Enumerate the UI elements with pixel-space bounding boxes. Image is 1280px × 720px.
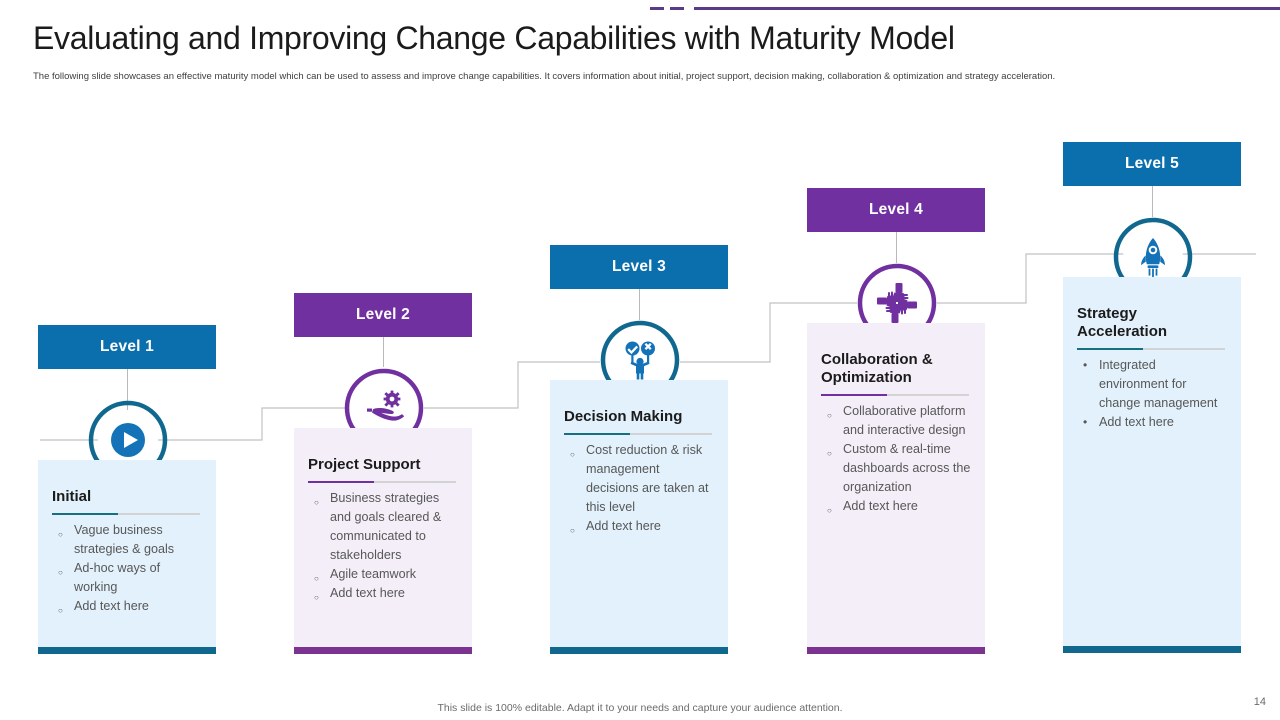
level-1-badge[interactable]: Level 1 xyxy=(38,325,216,369)
level-1-card: Initial Vague business strategies & goal… xyxy=(38,460,216,652)
header-accent-dash-1 xyxy=(650,7,664,10)
level-3-footbar xyxy=(550,647,728,654)
list-item: Cost reduction & risk management decisio… xyxy=(566,441,714,517)
level-2-title-underline xyxy=(308,481,456,483)
level-5-title-underline xyxy=(1077,348,1225,350)
level-2-footbar xyxy=(294,647,472,654)
level-1-list: Vague business strategies & goals Ad-hoc… xyxy=(52,521,202,616)
level-4-stem xyxy=(896,232,897,263)
level-2-badge[interactable]: Level 2 xyxy=(294,293,472,337)
level-1-footbar xyxy=(38,647,216,654)
level-5-badge[interactable]: Level 5 xyxy=(1063,142,1241,186)
page-subtitle: The following slide showcases an effecti… xyxy=(33,71,1218,84)
level-5-footbar xyxy=(1063,646,1241,653)
list-item: Add text here xyxy=(566,517,714,536)
level-4-footbar xyxy=(807,647,985,654)
list-item: Ad-hoc ways of working xyxy=(54,559,202,597)
list-item: Add text here xyxy=(1079,413,1227,432)
list-item: Collaborative platform and interactive d… xyxy=(823,402,971,440)
level-4-badge[interactable]: Level 4 xyxy=(807,188,985,232)
level-4-card: Collaboration & Optimization Collaborati… xyxy=(807,323,985,652)
level-4-title-underline xyxy=(821,394,969,396)
level-2-title: Project Support xyxy=(308,456,458,474)
level-5-title: Strategy Acceleration xyxy=(1077,305,1227,341)
level-3-card: Decision Making Cost reduction & risk ma… xyxy=(550,380,728,652)
level-4-title: Collaboration & Optimization xyxy=(821,351,971,387)
level-5-stem xyxy=(1152,186,1153,217)
page-title: Evaluating and Improving Change Capabili… xyxy=(33,20,1213,57)
level-5-list: Integrated environment for change manage… xyxy=(1077,356,1227,432)
header-accent-rule xyxy=(694,7,1280,10)
level-5-card: Strategy Acceleration Integrated environ… xyxy=(1063,277,1241,651)
list-item: Add text here xyxy=(823,497,971,516)
level-1-title: Initial xyxy=(52,488,202,506)
level-2-list: Business strategies and goals cleared & … xyxy=(308,489,458,603)
list-item: Agile teamwork xyxy=(310,565,458,584)
list-item: Integrated environment for change manage… xyxy=(1079,356,1227,413)
list-item: Business strategies and goals cleared & … xyxy=(310,489,458,565)
level-3-stem xyxy=(639,289,640,320)
level-4-list: Collaborative platform and interactive d… xyxy=(821,402,971,516)
list-item: Add text here xyxy=(54,597,202,616)
level-2-stem xyxy=(383,337,384,367)
level-1-title-underline xyxy=(52,513,200,515)
list-item: Add text here xyxy=(310,584,458,603)
footer-note: This slide is 100% editable. Adapt it to… xyxy=(0,702,1280,714)
list-item: Custom & real-time dashboards across the… xyxy=(823,440,971,497)
level-2-card: Project Support Business strategies and … xyxy=(294,428,472,652)
level-3-badge[interactable]: Level 3 xyxy=(550,245,728,289)
page-number: 14 xyxy=(1254,696,1266,708)
header-accent-dash-2 xyxy=(670,7,684,10)
level-3-title: Decision Making xyxy=(564,408,714,426)
level-3-list: Cost reduction & risk management decisio… xyxy=(564,441,714,536)
list-item: Vague business strategies & goals xyxy=(54,521,202,559)
level-3-title-underline xyxy=(564,433,712,435)
